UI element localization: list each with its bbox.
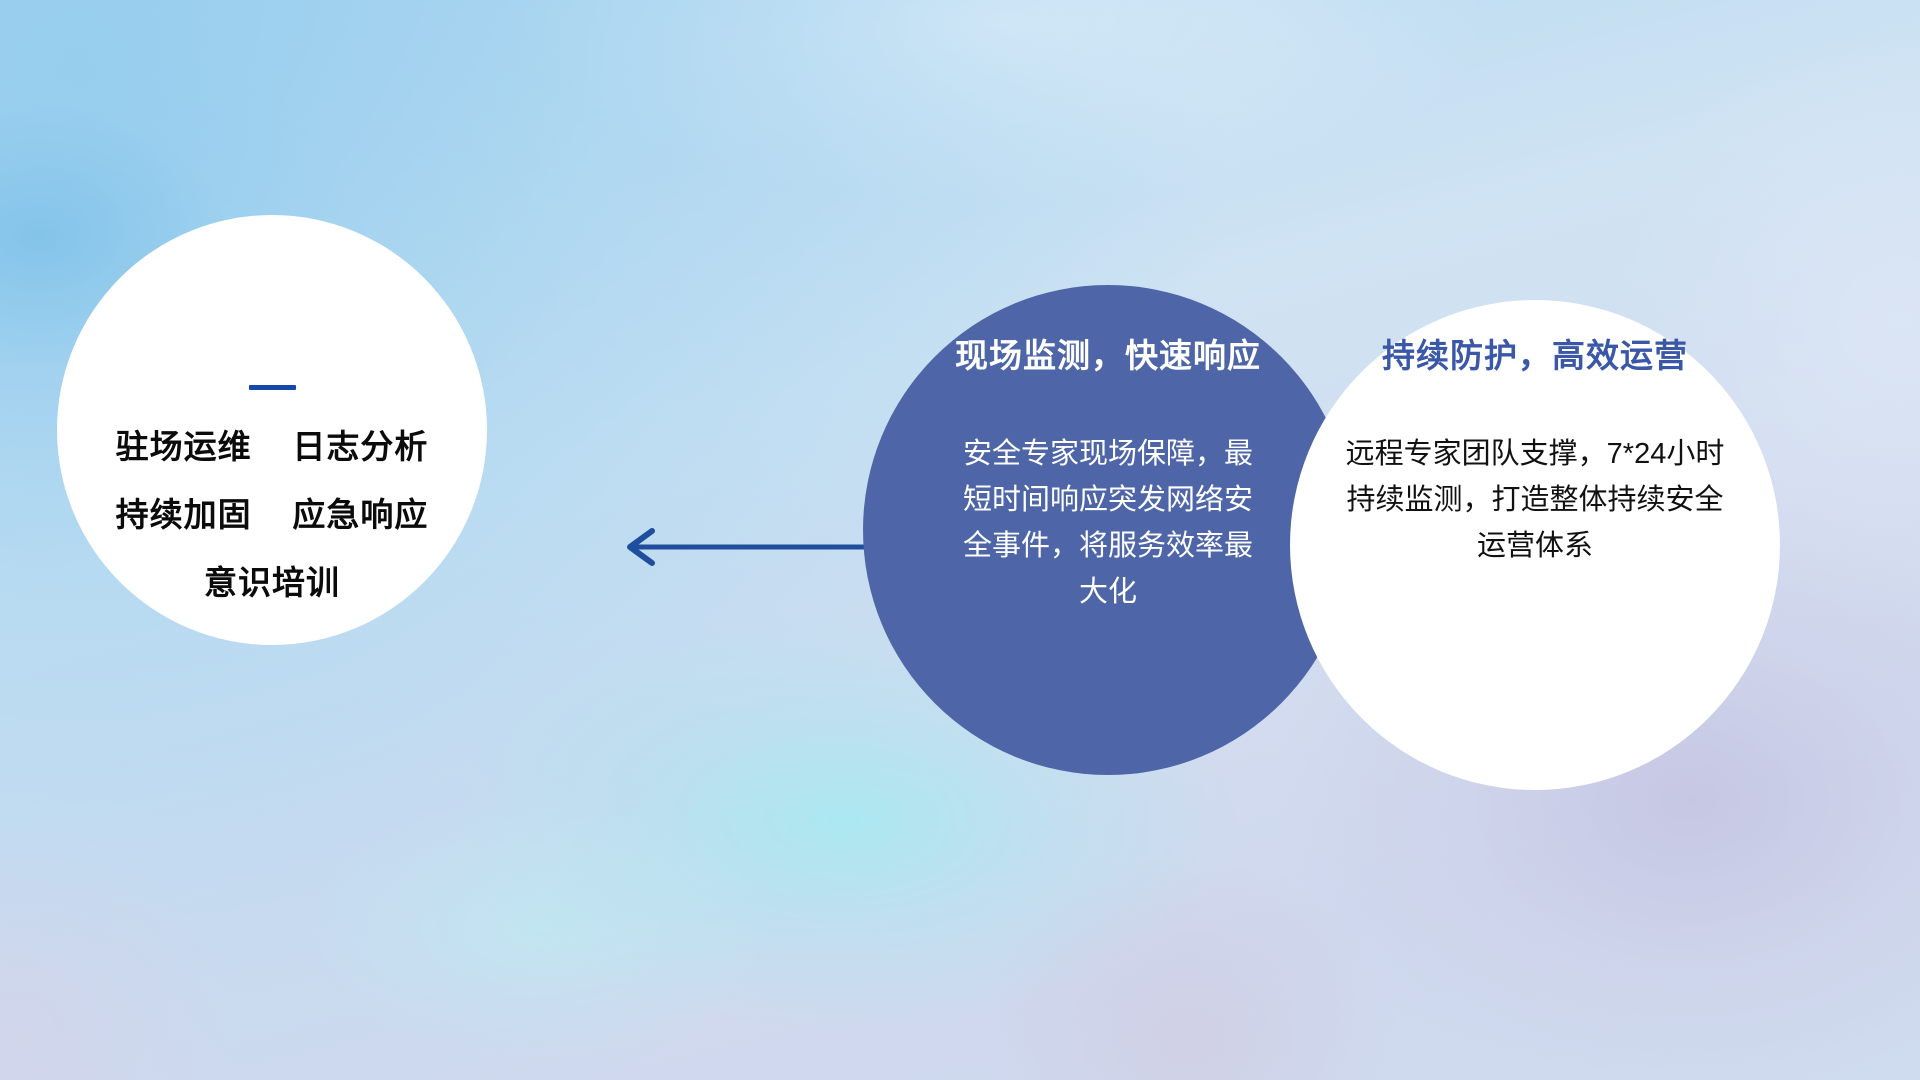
continuous-protection-content: 持续防护，高效运营 远程专家团队支撑，7*24小时持续监测，打造整体持续安全运营… (1320, 330, 1750, 750)
continuous-protection-body: 远程专家团队支撑，7*24小时持续监测，打造整体持续安全运营体系 (1335, 432, 1735, 569)
keywords-content: 驻场运维 日志分析 持续加固 应急响应 意识培训 (57, 215, 487, 645)
onsite-monitoring-body: 安全专家现场保障，最短时间响应突发网络安全事件，将服务效率最大化 (958, 432, 1258, 615)
keyword-line: 驻场运维 日志分析 (116, 430, 429, 463)
keyword-line: 持续加固 应急响应 (116, 498, 429, 531)
blue-dash-rule (249, 385, 296, 390)
keyword-line: 意识培训 (204, 566, 340, 599)
onsite-monitoring-content: 现场监测，快速响应 安全专家现场保障，最短时间响应突发网络安全事件，将服务效率最… (893, 330, 1323, 750)
onsite-monitoring-title: 现场监测，快速响应 (955, 338, 1261, 374)
slide-canvas: 现场监测，快速响应 安全专家现场保障，最短时间响应突发网络安全事件，将服务效率最… (0, 0, 1920, 1080)
continuous-protection-title: 持续防护，高效运营 (1382, 338, 1688, 374)
flow-arrow-icon (612, 522, 872, 572)
